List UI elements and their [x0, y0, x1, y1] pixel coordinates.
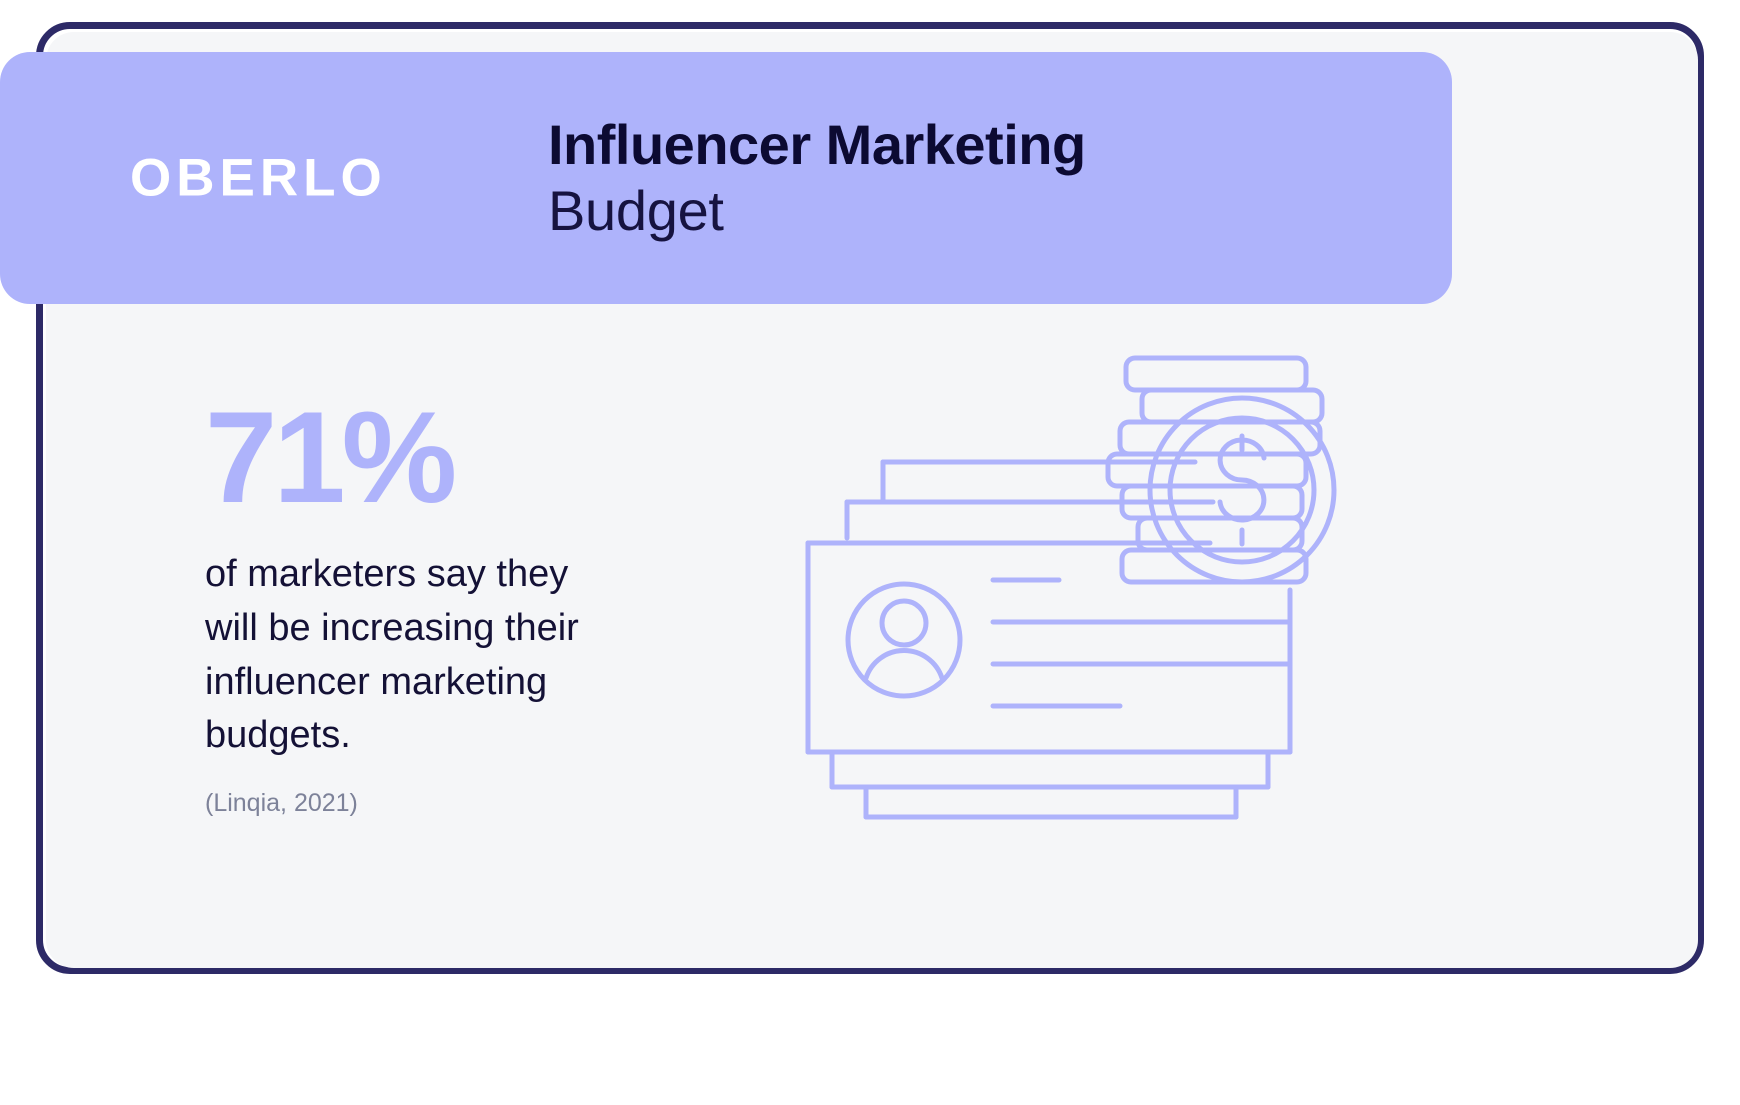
cards-and-coin-stack-illustration: [770, 340, 1390, 820]
text-placeholder-lines: [993, 580, 1290, 706]
stat-block: 71% of marketers say they will be increa…: [205, 398, 655, 818]
dollar-coin-icon: [1150, 398, 1334, 582]
page-title-line-1: Influencer Marketing: [548, 112, 1086, 178]
card-sheet-front: [808, 543, 1290, 752]
stat-source-citation: (Linqia, 2021): [205, 789, 655, 818]
page-title: Influencer Marketing Budget: [548, 112, 1086, 244]
stat-description: of marketers say they will be increasing…: [205, 548, 625, 764]
coin-stack: [1108, 358, 1322, 582]
page-title-line-2: Budget: [548, 178, 1086, 244]
card-stack-bottom-edges: [832, 752, 1268, 817]
infographic-canvas: OBERLO Influencer Marketing Budget 71% o…: [0, 0, 1740, 1105]
stat-figure: 71%: [205, 398, 655, 518]
oberlo-logo: OBERLO: [130, 152, 387, 205]
avatar-circle-icon: [848, 584, 960, 696]
header-bar: OBERLO Influencer Marketing Budget: [0, 52, 1452, 304]
